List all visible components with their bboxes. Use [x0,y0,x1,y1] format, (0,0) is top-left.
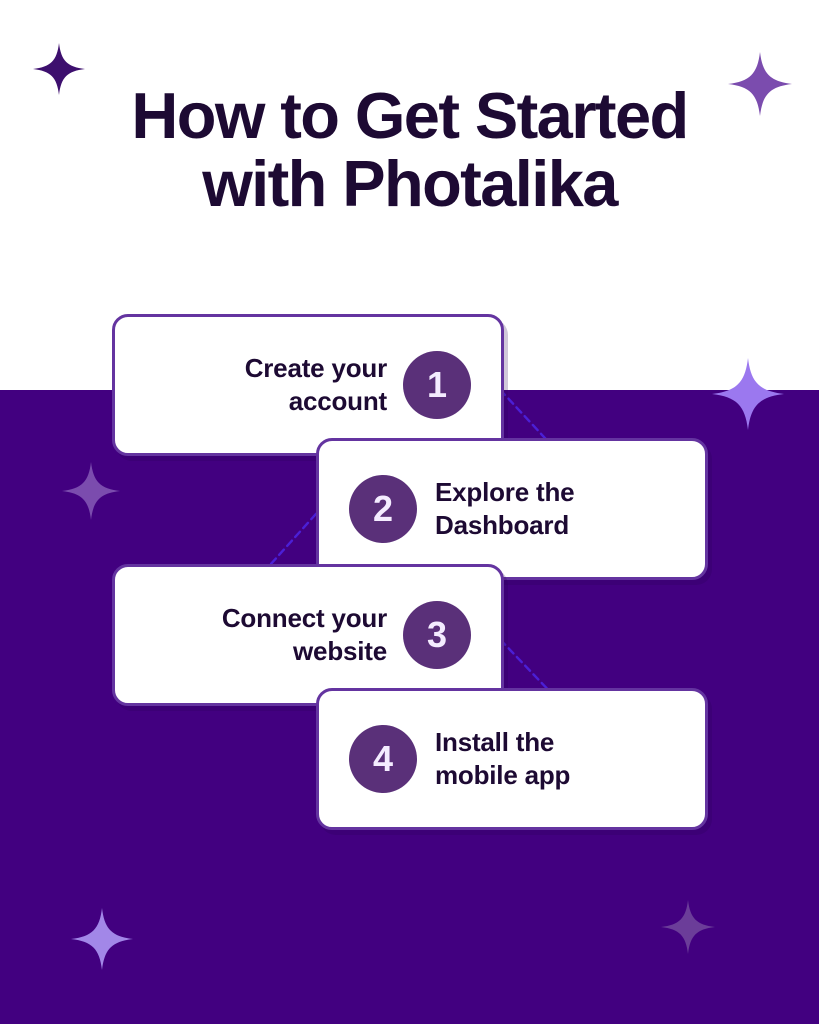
step-number-badge-4: 4 [349,725,417,793]
title-line-1: How to Get Started [0,82,819,150]
infographic-poster: How to Get Started with Photalika Create… [0,0,819,1024]
step-number-badge-2: 2 [349,475,417,543]
step-card-3[interactable]: Connect your website 3 [112,564,504,706]
step-number-badge-3: 3 [403,601,471,669]
step-label-2: Explore the Dashboard [435,476,574,542]
step-card-1[interactable]: Create your account 1 [112,314,504,456]
step-number-badge-1: 1 [403,351,471,419]
step-card-4[interactable]: 4 Install the mobile app [316,688,708,830]
step-card-2[interactable]: 2 Explore the Dashboard [316,438,708,580]
step-label-1: Create your account [245,352,387,418]
title-line-2: with Photalika [0,150,819,218]
step-label-3: Connect your website [222,602,387,668]
page-title: How to Get Started with Photalika [0,82,819,218]
step-label-4: Install the mobile app [435,726,570,792]
